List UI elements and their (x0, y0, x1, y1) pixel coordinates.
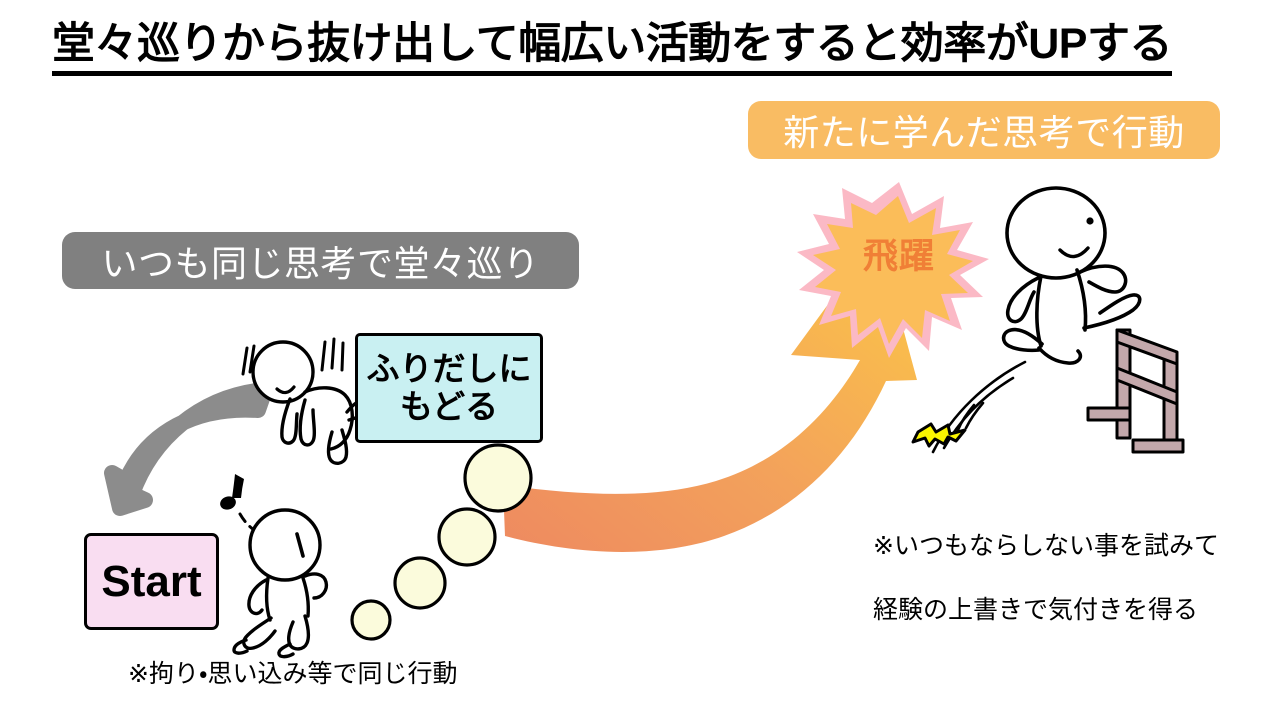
note-right: ※いつもならしない事を試みて 経験の上書きで気付きを得る (873, 498, 1219, 658)
reset-box: ふりだしに もどる (355, 333, 543, 443)
note-left: ※拘り・思い込み等で同じ行動 (128, 658, 457, 690)
step-circle-1 (352, 601, 390, 639)
start-box-label: Start (101, 557, 201, 607)
start-box: Start (84, 533, 219, 630)
reset-box-label: ふりだしに もどる (367, 350, 532, 427)
walking-figure (234, 510, 326, 657)
step-circle-4 (465, 445, 531, 511)
note-right-line1: ※いつもならしない事を試みて (873, 530, 1219, 562)
hurdle (1088, 330, 1183, 452)
step-circles (352, 445, 531, 639)
note-right-line2: 経験の上書きで気付きを得る (873, 594, 1219, 626)
diagram-canvas: 堂々巡りから抜け出して幅広い活動をすると効率がUPする いつも同じ思考で堂々巡り… (0, 0, 1280, 720)
step-circle-2 (395, 558, 445, 608)
loop-arrow (107, 388, 266, 512)
step-circle-3 (439, 509, 495, 565)
